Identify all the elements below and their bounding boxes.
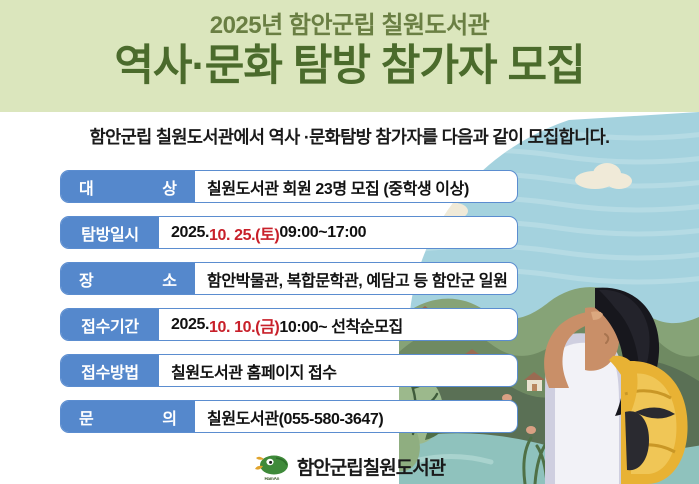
value-text-post: 09:00~17:00 xyxy=(279,224,366,242)
detail-row-target: 대 상 칠원도서관 회원 23명 모집 (중학생 이상) xyxy=(60,170,518,203)
logo-caption: HamAn xyxy=(254,476,290,481)
poster-header: 2025년 함안군립 칠원도서관 역사·문화 탐방 참가자 모집 xyxy=(0,0,699,112)
value-text: 칠원도서관 홈페이지 접수 xyxy=(171,359,337,383)
label-char-2: 상 xyxy=(162,175,177,199)
detail-label-place: 장 소 xyxy=(61,263,195,294)
detail-value-date: 2025. 10. 25.(토) 09:00~17:00 xyxy=(159,217,517,248)
detail-row-application-method: 접수방법 칠원도서관 홈페이지 접수 xyxy=(60,354,518,387)
value-text-accent: 10. 10.(금) xyxy=(209,313,279,337)
detail-value-application-period: 2025. 10. 10.(금) 10:00~ 선착순모집 xyxy=(159,309,517,340)
bird-icon xyxy=(439,157,467,162)
value-text-pre: 2025. xyxy=(171,224,209,242)
intro-sentence: 함안군립 칠원도서관에서 역사 ·문화탐방 참가자를 다음과 같이 모집합니다. xyxy=(0,124,699,149)
value-text-post: 10:00~ 선착순모집 xyxy=(279,313,403,337)
detail-label-date: 탐방일시 xyxy=(61,217,159,248)
label-char-2: 의 xyxy=(162,405,177,429)
details-list: 대 상 칠원도서관 회원 23명 모집 (중학생 이상) 탐방일시 2025. … xyxy=(60,170,518,446)
header-subtitle-line: 2025년 함안군립 칠원도서관 xyxy=(0,0,699,40)
organization-name: 함안군립칠원도서관 xyxy=(297,453,445,480)
detail-value-place: 함안박물관, 복합문학관, 예담고 등 함안군 일원 xyxy=(195,263,517,294)
poster-root: 2025년 함안군립 칠원도서관 역사·문화 탐방 참가자 모집 함안군립 칠원… xyxy=(0,0,699,484)
detail-label-application-period: 접수기간 xyxy=(61,309,159,340)
value-text: 함안박물관, 복합문학관, 예담고 등 함안군 일원 xyxy=(207,267,507,291)
detail-row-application-period: 접수기간 2025. 10. 10.(금) 10:00~ 선착순모집 xyxy=(60,308,518,341)
poster-footer: HamAn 함안군립칠원도서관 xyxy=(0,453,699,480)
page-title: 역사·문화 탐방 참가자 모집 xyxy=(0,40,699,90)
detail-label-contact: 문 의 xyxy=(61,401,195,432)
value-text-accent: 10. 25.(토) xyxy=(209,221,279,245)
detail-row-date: 탐방일시 2025. 10. 25.(토) 09:00~17:00 xyxy=(60,216,518,249)
label-char-1: 장 xyxy=(79,267,94,291)
leaf-mascot-icon: HamAn xyxy=(254,454,290,480)
value-text: 칠원도서관 회원 23명 모집 (중학생 이상) xyxy=(207,175,469,199)
detail-label-target: 대 상 xyxy=(61,171,195,202)
value-text-pre: 2025. xyxy=(171,316,209,334)
detail-value-target: 칠원도서관 회원 23명 모집 (중학생 이상) xyxy=(195,171,517,202)
value-text: 칠원도서관(055-580-3647) xyxy=(207,405,383,429)
detail-row-place: 장 소 함안박물관, 복합문학관, 예담고 등 함안군 일원 xyxy=(60,262,518,295)
detail-value-application-method: 칠원도서관 홈페이지 접수 xyxy=(159,355,517,386)
detail-value-contact: 칠원도서관(055-580-3647) xyxy=(195,401,517,432)
detail-row-contact: 문 의 칠원도서관(055-580-3647) xyxy=(60,400,518,433)
detail-label-application-method: 접수방법 xyxy=(61,355,159,386)
label-char-1: 대 xyxy=(79,175,94,199)
label-char-1: 문 xyxy=(79,405,94,429)
label-char-2: 소 xyxy=(162,267,177,291)
